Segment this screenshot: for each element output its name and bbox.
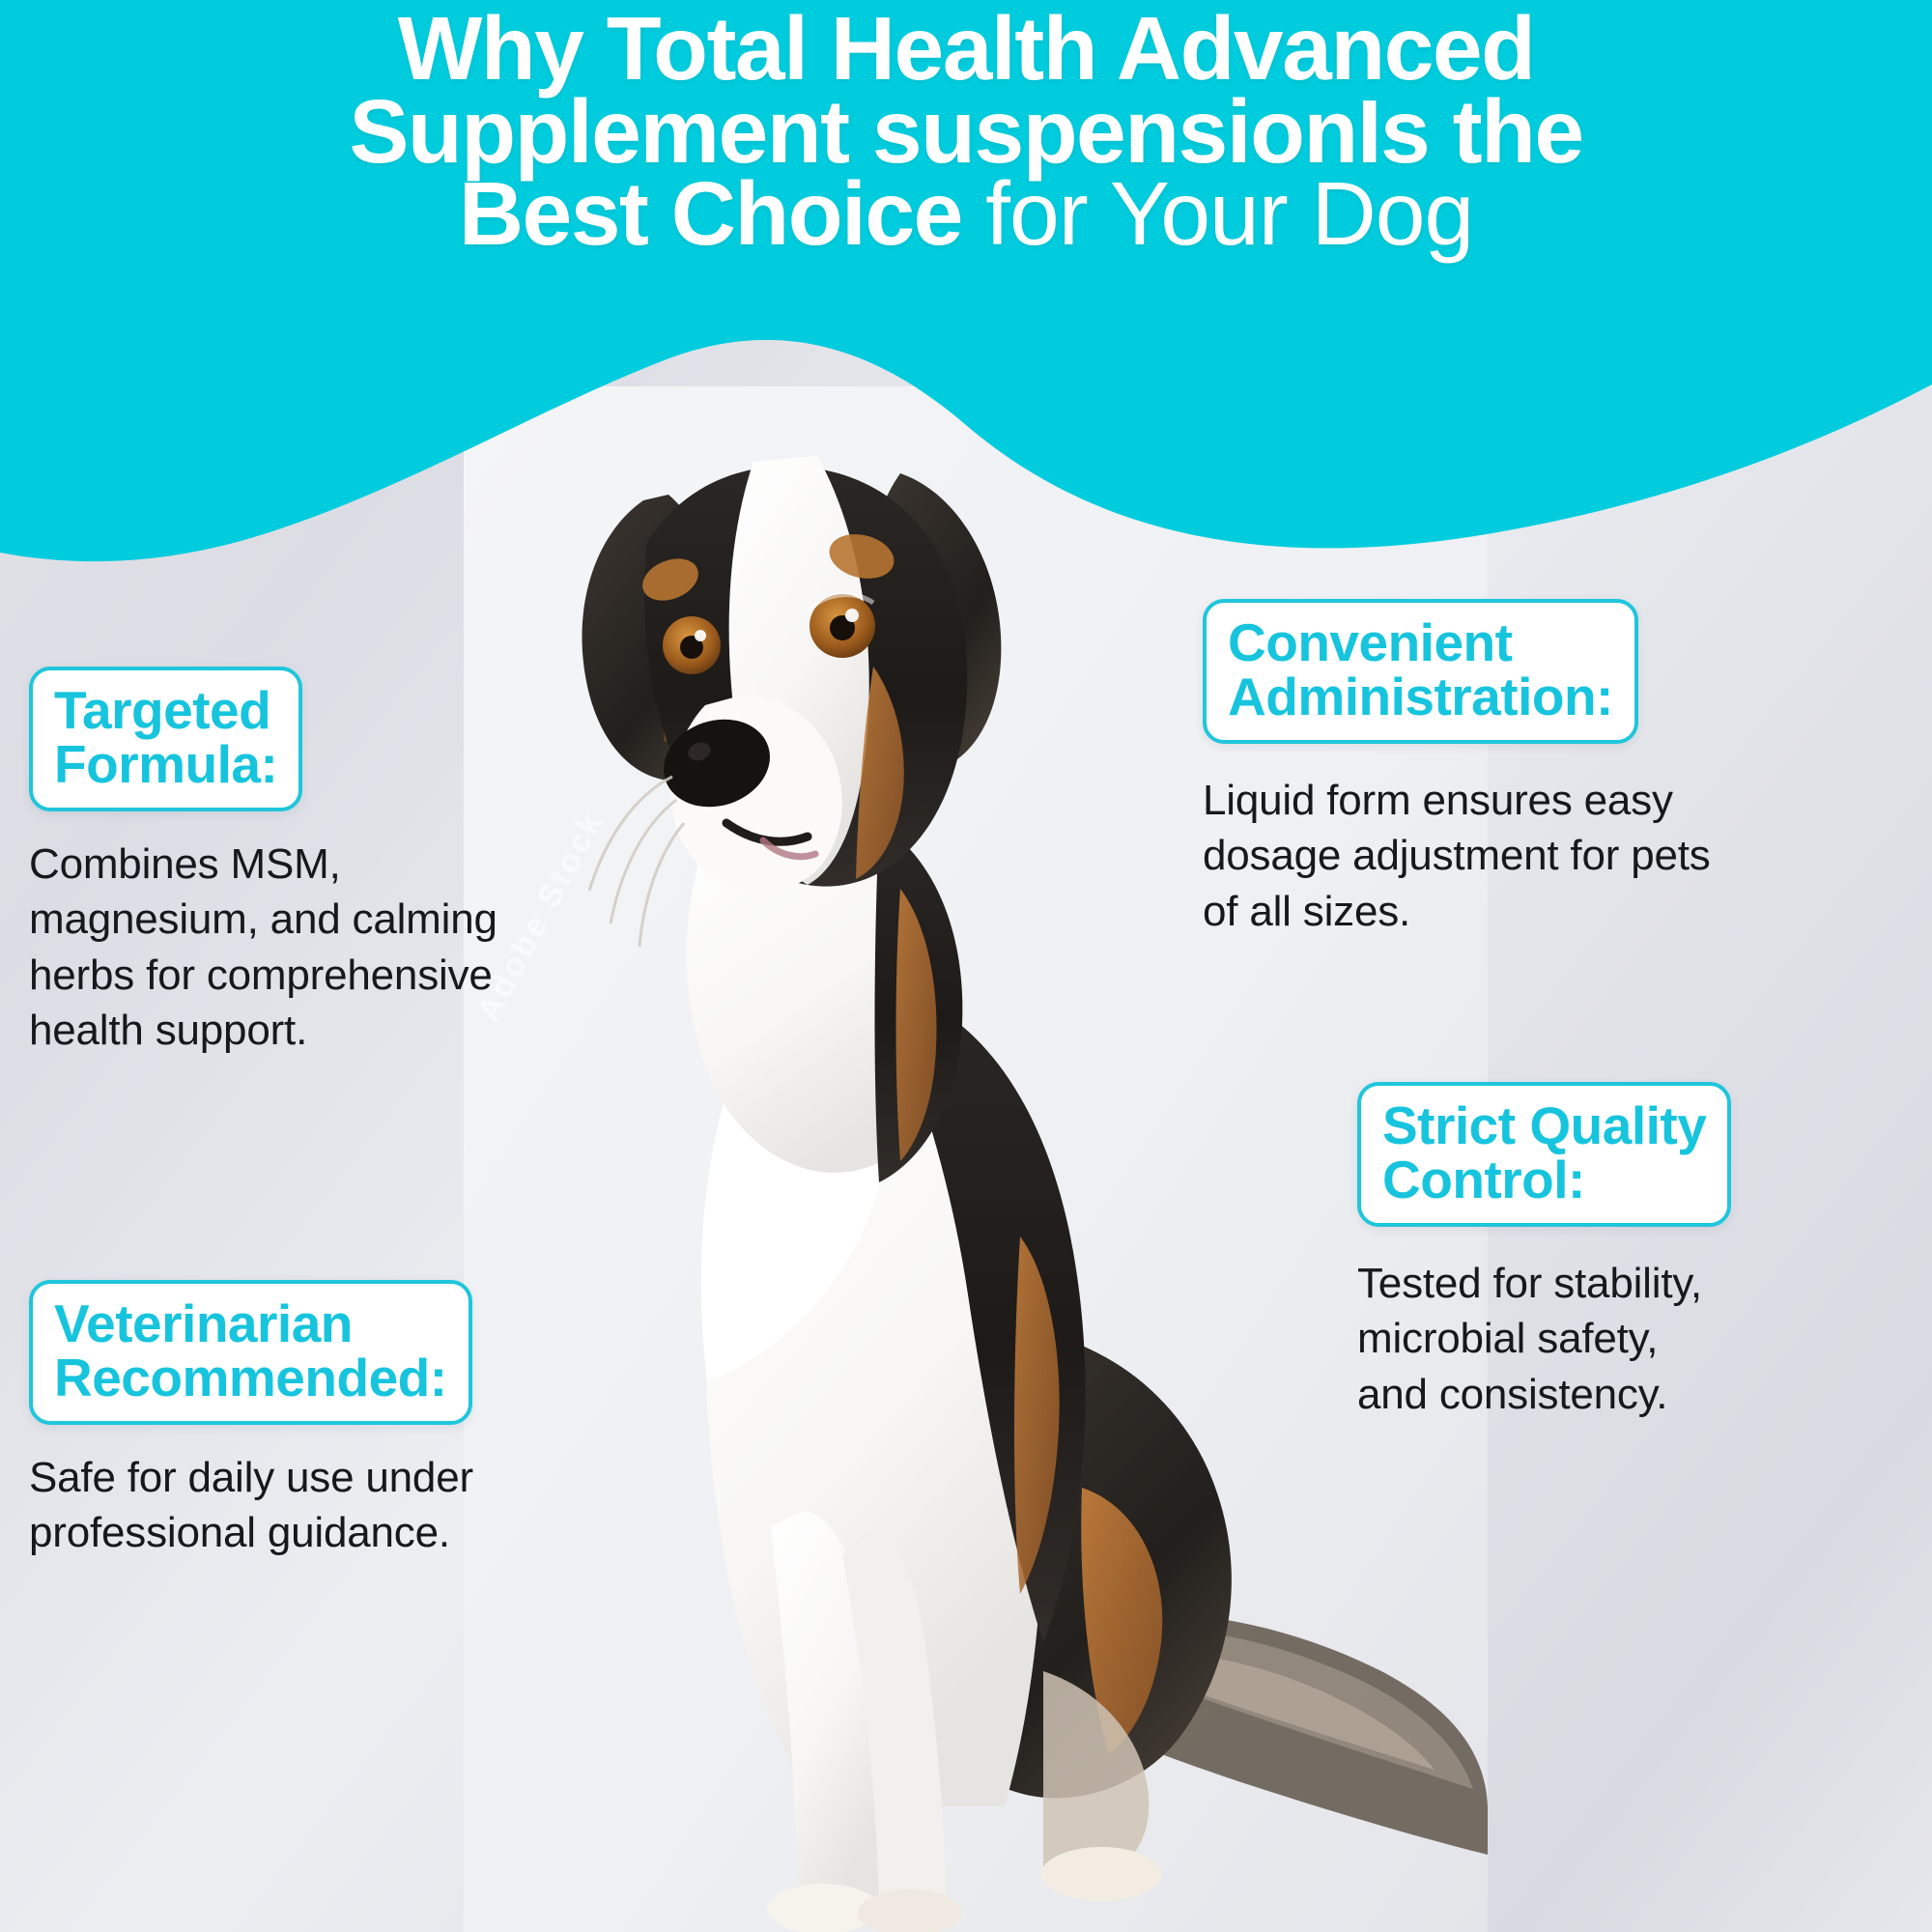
badge-targeted-formula[interactable]: Targeted Formula: bbox=[29, 667, 302, 811]
badge-label: Veterinarian Recommended: bbox=[54, 1296, 447, 1405]
feature-veterinarian-recommended: Veterinarian Recommended: Safe for daily… bbox=[29, 1280, 686, 1561]
feature-targeted-formula: Targeted Formula: Combines MSM, magnesiu… bbox=[29, 667, 570, 1058]
badge-label: Convenient Administration: bbox=[1228, 615, 1613, 724]
title-line-2: Supplement suspensionIs the bbox=[39, 91, 1893, 174]
title-thin-part: for Your Dog bbox=[985, 163, 1473, 264]
badge-veterinarian-recommended[interactable]: Veterinarian Recommended: bbox=[29, 1280, 472, 1425]
feature-body-text: Safe for daily use under professional gu… bbox=[29, 1450, 609, 1560]
dog-eye-left bbox=[663, 616, 721, 674]
feature-body-text: Combines MSM, magnesium, and calming her… bbox=[29, 837, 531, 1058]
title-line-1: Why Total Health Advanced bbox=[39, 8, 1893, 91]
feature-body-text: Tested for stability, microbial safety, … bbox=[1357, 1256, 1860, 1422]
page-title: Why Total Health Advanced Supplement sus… bbox=[0, 8, 1932, 256]
badge-label: Targeted Formula: bbox=[54, 683, 277, 791]
title-line-3: Best Choice for Your Dog bbox=[39, 173, 1893, 256]
badge-strict-quality-control[interactable]: Strict Quality Control: bbox=[1357, 1082, 1731, 1227]
infographic-page: Adobe Stock Why Total Health Advanced Su… bbox=[0, 0, 1932, 1932]
badge-convenient-administration[interactable]: Convenient Administration: bbox=[1203, 599, 1638, 744]
feature-body-text: Liquid form ensures easy dosage adjustme… bbox=[1203, 773, 1821, 939]
badge-label: Strict Quality Control: bbox=[1382, 1098, 1706, 1207]
title-bold-part: Best Choice bbox=[459, 163, 985, 264]
feature-convenient-administration: Convenient Administration: Liquid form e… bbox=[1203, 599, 1840, 939]
dog-eye-right bbox=[810, 594, 875, 658]
feature-strict-quality-control: Strict Quality Control: Tested for stabi… bbox=[1357, 1082, 1869, 1422]
